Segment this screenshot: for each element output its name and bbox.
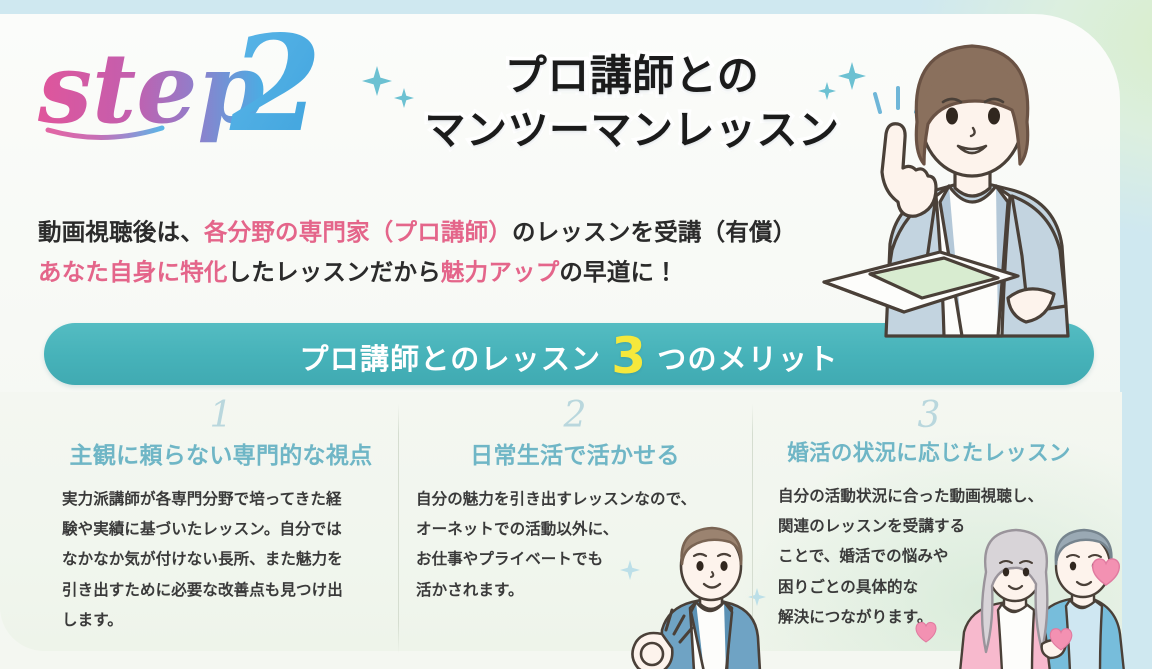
merit-number-1: 1 bbox=[62, 398, 380, 436]
merit-title-1: 主観に頼らない専門的な視点 bbox=[62, 436, 380, 470]
merit-number-3: 3 bbox=[770, 398, 1088, 436]
female-teacher-illustration bbox=[812, 6, 1142, 336]
heart-icon bbox=[1048, 626, 1074, 656]
merit-title-3: 婚活の状況に応じたレッスン bbox=[770, 436, 1088, 467]
step-logo-number: 2 bbox=[229, 7, 322, 162]
lead-text-2-end: の早道に！ bbox=[559, 258, 678, 286]
lead-text-1b: のレッスンを受講（有償） bbox=[512, 218, 796, 246]
heart-icon bbox=[914, 620, 938, 648]
smiling-man-ok-gesture-illustration bbox=[592, 522, 762, 669]
lead-text-1-pink: 各分野の専門家（プロ講師） bbox=[204, 218, 512, 246]
lead-text-2-pink2: 魅力アップ bbox=[441, 258, 560, 286]
merits-banner-number: 3 bbox=[611, 334, 647, 379]
step-logo: step 2 bbox=[34, 26, 354, 156]
merit-body-line: 自分の魅力を引き出すレッスンなので、 bbox=[416, 484, 734, 514]
merit-body-line: します。 bbox=[62, 605, 380, 635]
merit-body-line: 実力派講師が各専門分野で培ってきた経 bbox=[62, 484, 380, 514]
merit-body-line: 験や実績に基づいたレッスン。自分では bbox=[62, 514, 380, 544]
lead-line-2: あなた自身に特化したレッスンだから魅力アップの早道に！ bbox=[38, 252, 838, 292]
lead-line-1: 動画視聴後は、各分野の専門家（プロ講師）のレッスンを受講（有償） bbox=[38, 212, 838, 252]
lead-text-1a: 動画視聴後は、 bbox=[38, 218, 204, 246]
merits-banner-prefix: プロ講師とのレッスン bbox=[300, 336, 602, 378]
merits-banner-suffix: つのメリット bbox=[657, 336, 838, 378]
merit-column-1: 1 主観に頼らない専門的な視点 実力派講師が各専門分野で培ってきた経 験や実績に… bbox=[44, 398, 398, 648]
lead-paragraph: 動画視聴後は、各分野の専門家（プロ講師）のレッスンを受講（有償） あなた自身に特… bbox=[38, 212, 838, 293]
heart-icon bbox=[1090, 556, 1122, 591]
merits-banner-text: プロ講師とのレッスン 3 つのメリット bbox=[300, 330, 839, 378]
merit-body-1: 実力派講師が各専門分野で培ってきた経 験や実績に基づいたレッスン。自分では なか… bbox=[62, 484, 380, 635]
merit-title-2: 日常生活で活かせる bbox=[416, 436, 734, 470]
infographic-canvas: step 2 プロ講師との マンツーマンレッスン bbox=[0, 0, 1152, 669]
lead-text-2-pink1: あなた自身に特化 bbox=[38, 258, 228, 286]
merit-body-line: 自分の活動状況に合った動画視聴し、 bbox=[778, 481, 1088, 511]
merit-body-line: 引き出すために必要な改善点も見つけ出 bbox=[62, 575, 380, 605]
merit-body-line: なかなか気が付けない長所、また魅力を bbox=[62, 544, 380, 574]
lead-text-2-mid: したレッスンだから bbox=[228, 258, 441, 286]
merit-number-2: 2 bbox=[416, 398, 734, 436]
